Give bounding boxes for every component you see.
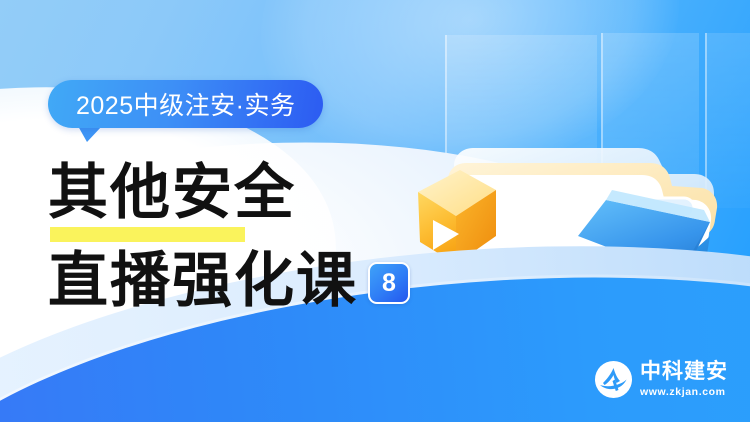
banner-title: 其他安全 直播强化课 8 [48,155,410,313]
brand-name-cn: 中科建安 [640,361,728,382]
tag-bubble-tail [78,126,102,142]
zkjan-circle-mark-icon [595,361,632,398]
course-banner: 2025中级注安·实务 其他安全 直播强化课 8 中科建安 www.zkjan.… [0,0,750,422]
episode-number-badge: 8 [368,262,410,304]
title-line-1-text: 其他安全 [48,161,296,225]
title-line-2-text: 直播强化课 [48,249,358,313]
brand-logo: 中科建安 www.zkjan.com [595,361,728,398]
episode-number-text: 8 [382,271,396,296]
brand-url: www.zkjan.com [640,387,728,398]
title-line-1: 其他安全 [48,155,410,231]
brand-logo-text: 中科建安 www.zkjan.com [640,361,728,398]
category-tag: 2025中级注安·实务 [48,80,323,128]
category-tag-label: 2025中级注安·实务 [76,86,295,122]
title-line-2: 直播强化课 8 [48,237,410,313]
